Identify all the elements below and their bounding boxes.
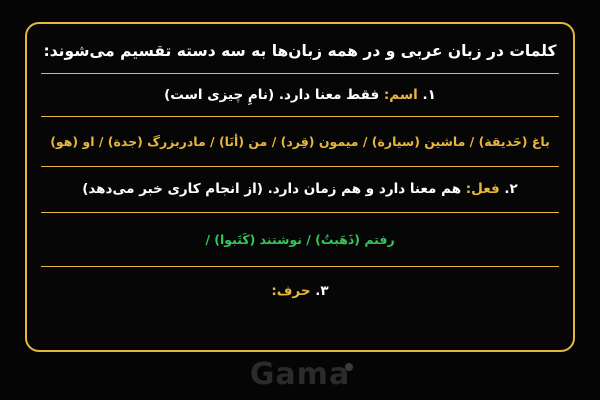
watermark-text: Gama <box>250 357 350 392</box>
example-row-2: رفتم (ذَهَبتُ) / نوشتند (کَتَبوا) / <box>41 213 559 267</box>
definition-line-3: ۳. حرف: <box>271 281 328 301</box>
definition-line-1: ۱. اسم: فقط معنا دارد. (نامِ چیزی است) <box>164 85 436 105</box>
item-keyword-1: اسم: <box>384 87 418 103</box>
title-row: کلمات در زبان عربی و در همه زبان‌ها به س… <box>41 30 559 74</box>
item-keyword-2: فعل: <box>466 181 500 197</box>
item-number-3: ۳. <box>315 283 328 299</box>
item-definition-1: فقط معنا دارد. (نامِ چیزی است) <box>164 87 379 103</box>
example-row-1: باغ (حَدیقة) / ماشین (سیارة) / میمون (قِ… <box>41 117 559 167</box>
item-keyword-3: حرف: <box>271 283 310 299</box>
item-number-1: ۱. <box>422 87 435 103</box>
content-panel: کلمات در زبان عربی و در همه زبان‌ها به س… <box>25 22 575 352</box>
definition-line-2: ۲. فعل: هم معنا دارد و هم زمان دارد. (از… <box>82 179 518 199</box>
definition-row-2: ۲. فعل: هم معنا دارد و هم زمان دارد. (از… <box>41 167 559 213</box>
page-title: کلمات در زبان عربی و در همه زبان‌ها به س… <box>44 41 557 63</box>
item-definition-2: هم معنا دارد و هم زمان دارد. (از انجام ک… <box>82 181 461 197</box>
item-number-2: ۲. <box>504 181 517 197</box>
definition-row-1: ۱. اسم: فقط معنا دارد. (نامِ چیزی است) <box>41 74 559 117</box>
watermark: Gama <box>0 352 600 396</box>
definition-row-3: ۳. حرف: <box>41 267 559 315</box>
item-example-1: باغ (حَدیقة) / ماشین (سیارة) / میمون (قِ… <box>50 132 550 152</box>
slide-root: کلمات در زبان عربی و در همه زبان‌ها به س… <box>0 0 600 400</box>
item-example-2: رفتم (ذَهَبتُ) / نوشتند (کَتَبوا) / <box>205 230 394 250</box>
watermark-dot-icon <box>345 363 353 371</box>
